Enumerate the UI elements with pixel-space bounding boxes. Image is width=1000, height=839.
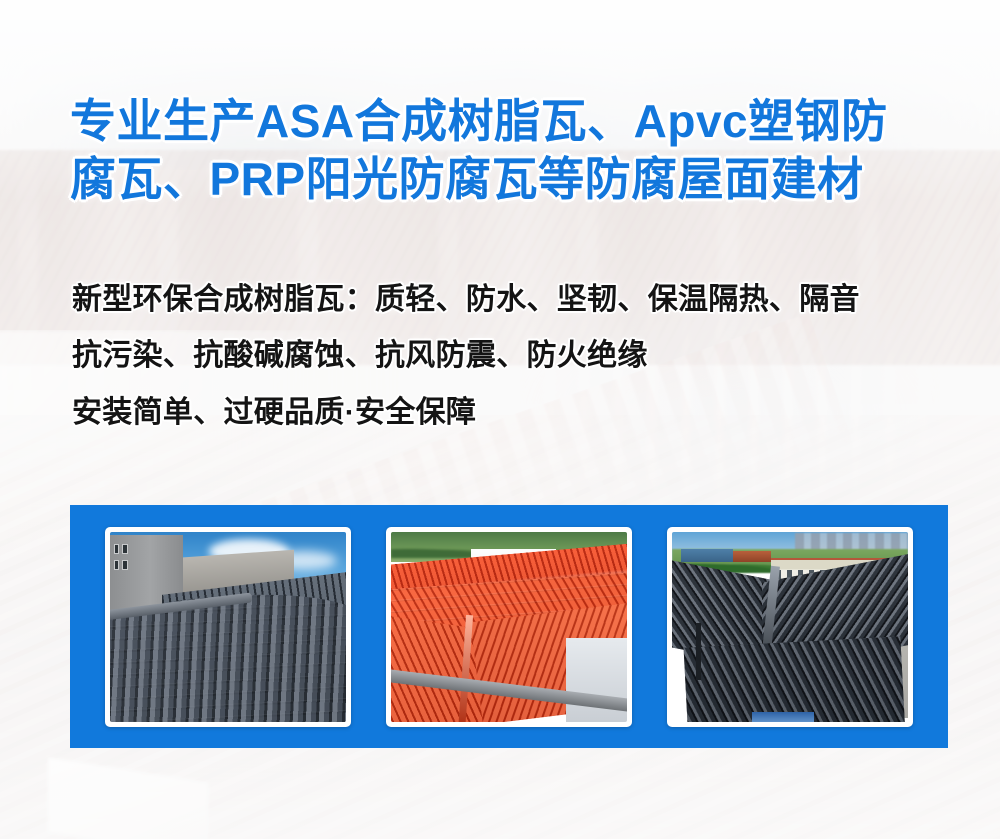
- charcoal-roof-plane-front: [684, 636, 906, 721]
- red-resin-tile-roof-photo[interactable]: [386, 527, 632, 727]
- banner-content: 专业生产ASA合成树脂瓦、Apvc塑钢防 腐瓦、PRP阳光防腐瓦等防腐屋面建材 …: [0, 0, 1000, 839]
- window: [122, 544, 127, 553]
- photo-image-area: [110, 532, 346, 722]
- blue-roof-building: [681, 549, 733, 562]
- photo-gallery-panel: [70, 505, 948, 748]
- blue-tarp-foreground: [752, 712, 813, 722]
- feature-line-3: 安装简单、过硬品质·安全保障: [72, 384, 972, 442]
- charcoal-tile-roof-photo[interactable]: [667, 527, 913, 727]
- terracotta-roof-building: [733, 551, 771, 562]
- headline-block: 专业生产ASA合成树脂瓦、Apvc塑钢防 腐瓦、PRP阳光防腐瓦等防腐屋面建材: [70, 92, 950, 208]
- photo-image-area: [391, 532, 627, 722]
- steel-post: [696, 623, 702, 680]
- feature-line-1: 新型环保合成树脂瓦：质轻、防水、坚韧、保温隔热、隔音: [72, 272, 972, 328]
- feature-text-block: 新型环保合成树脂瓦：质轻、防水、坚韧、保温隔热、隔音 抗污染、抗酸碱腐蚀、抗风防…: [72, 272, 972, 442]
- headline-line-1: 专业生产ASA合成树脂瓦、Apvc塑钢防: [70, 92, 950, 150]
- window: [114, 544, 119, 553]
- window: [114, 560, 119, 569]
- feature-line-2: 抗污染、抗酸碱腐蚀、抗风防震、防火绝缘: [72, 328, 972, 384]
- photo-image-area: [672, 532, 908, 722]
- product-banner: 专业生产ASA合成树脂瓦、Apvc塑钢防 腐瓦、PRP阳光防腐瓦等防腐屋面建材 …: [0, 0, 1000, 839]
- headline-line-2: 腐瓦、PRP阳光防腐瓦等防腐屋面建材: [70, 150, 950, 208]
- grey-barrel-tile-roof-photo[interactable]: [105, 527, 351, 727]
- window: [122, 560, 127, 569]
